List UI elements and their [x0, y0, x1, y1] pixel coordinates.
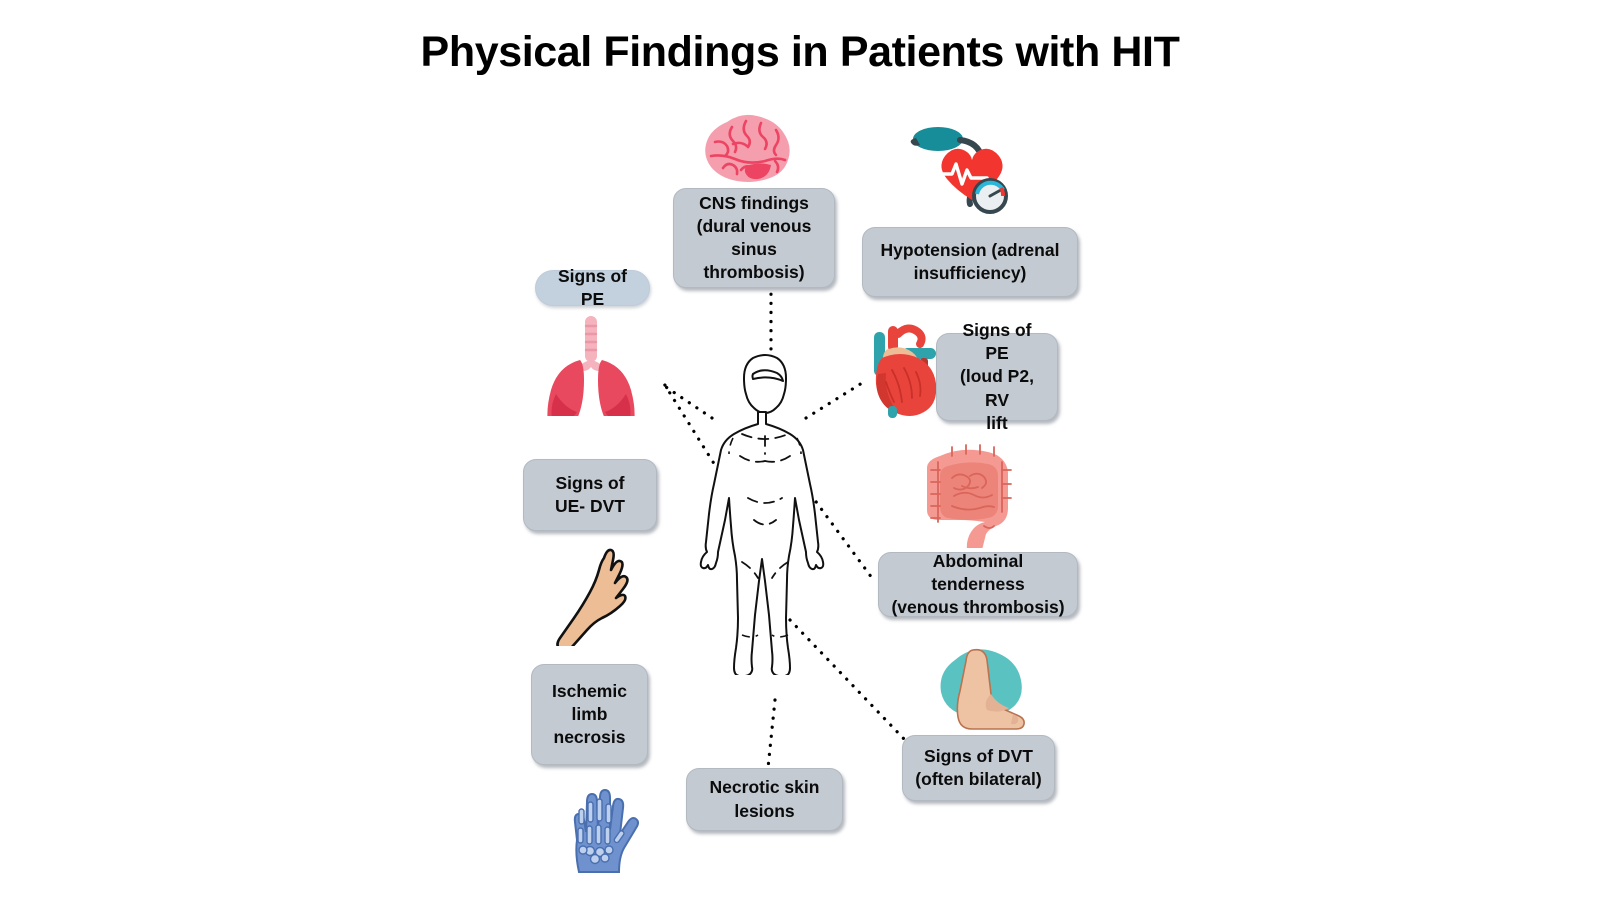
lungs-icon	[532, 312, 650, 416]
label-necrotic-skin-lesions[interactable]: Necrotic skin lesions	[686, 768, 843, 831]
label-signs-of-pe-right[interactable]: Signs of PE (loud P2, RV lift	[936, 333, 1058, 421]
label-abdominal-tenderness[interactable]: Abdominal tenderness (venous thrombosis)	[878, 552, 1078, 617]
label-cns-findings[interactable]: CNS findings (dural venous sinus thrombo…	[673, 188, 835, 288]
label-signs-of-pe-left[interactable]: Signs of PE	[535, 270, 650, 306]
label-ischemic-limb-necrosis[interactable]: Ischemic limb necrosis	[531, 664, 648, 765]
diagram-canvas: Physical Findings in Patients with HIT	[0, 0, 1600, 900]
intestines-icon	[918, 438, 1022, 548]
arm-icon	[552, 542, 642, 646]
hand-xray-icon	[557, 780, 641, 876]
connector-necrotic	[768, 700, 775, 768]
label-signs-of-ue-dvt[interactable]: Signs of UE- DVT	[523, 459, 657, 531]
label-hypotension[interactable]: Hypotension (adrenal insufficiency)	[862, 227, 1078, 297]
brain-icon	[697, 108, 797, 186]
human-body-figure	[690, 350, 840, 675]
foot-icon	[933, 642, 1031, 738]
anatomical-heart-icon	[858, 322, 944, 418]
label-signs-of-dvt[interactable]: Signs of DVT (often bilateral)	[902, 735, 1055, 801]
blood-pressure-icon	[902, 116, 1014, 216]
